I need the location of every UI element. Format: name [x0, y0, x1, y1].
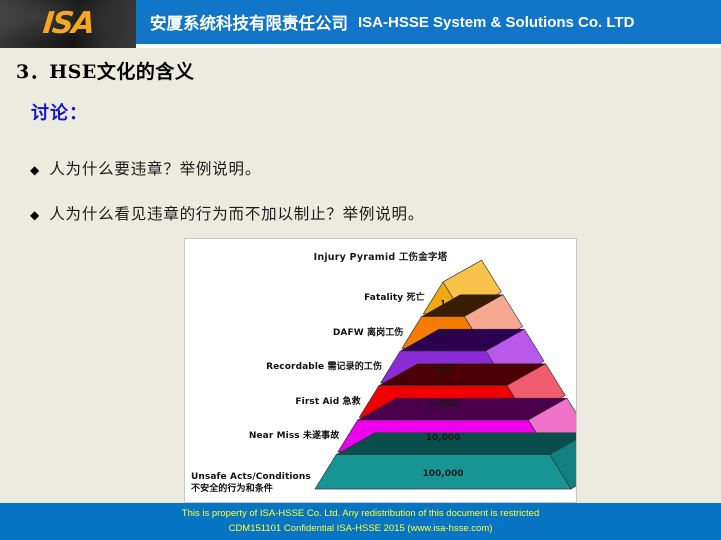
page-title: 3．HSE文化的含义 [16, 57, 194, 84]
pyramid-level-value: 1,000 [383, 399, 503, 409]
pyramid-level-value: 100 [383, 364, 503, 374]
bullet-item: ◆ 人为什么看见违章的行为而不加以制止？举例说明。 [30, 202, 424, 224]
header-company-name-cn: 安厦系统科技有限责任公司 [150, 10, 348, 34]
slide-root: ISA 安厦系统科技有限责任公司 ISA-HSSE System & Solut… [0, 0, 721, 540]
header-company-name-en: ISA-HSSE System & Solutions Co. LTD [358, 14, 634, 31]
pyramid-level-value: 100,000 [383, 469, 503, 479]
injury-pyramid-image: Injury Pyramid 工伤金字塔 1Fatality 死亡10DAFW … [184, 238, 577, 503]
header-title-bar: 安厦系统科技有限责任公司 ISA-HSSE System & Solutions… [136, 0, 721, 44]
header-underline [136, 44, 721, 48]
slide-footer: This is property of ISA-HSSE Co. Ltd. An… [0, 503, 721, 540]
diamond-bullet-icon: ◆ [30, 164, 39, 176]
pyramid-level-label: First Aid 急救 [295, 394, 360, 407]
bullet-text: 人为什么看见违章的行为而不加以制止？举例说明。 [49, 202, 424, 224]
pyramid-level-label: Unsafe Acts/Conditions不安全的行为和条件 [191, 471, 311, 495]
pyramid-level-label: Fatality 死亡 [364, 290, 425, 303]
company-logo: ISA [0, 0, 136, 48]
bullet-text: 人为什么要违章？举例说明。 [49, 157, 261, 179]
footer-line-1: This is property of ISA-HSSE Co. Ltd. An… [182, 507, 539, 521]
pyramid-level-label: DAFW 离岗工伤 [333, 325, 404, 338]
section-subtitle: 讨论： [31, 99, 88, 125]
slide-header: ISA 安厦系统科技有限责任公司 ISA-HSSE System & Solut… [0, 0, 721, 48]
diamond-bullet-icon: ◆ [30, 209, 39, 221]
logo-text: ISA [41, 9, 94, 39]
footer-line-2: CDM151101 Confidential ISA-HSSE 2015 (ww… [229, 522, 493, 536]
pyramid-level-label: Recordable 需记录的工伤 [266, 359, 382, 372]
bullet-item: ◆ 人为什么要违章？举例说明。 [30, 157, 261, 179]
pyramid-level-value: 10,000 [383, 433, 503, 443]
pyramid-level-label: Near Miss 未遂事故 [249, 428, 340, 441]
